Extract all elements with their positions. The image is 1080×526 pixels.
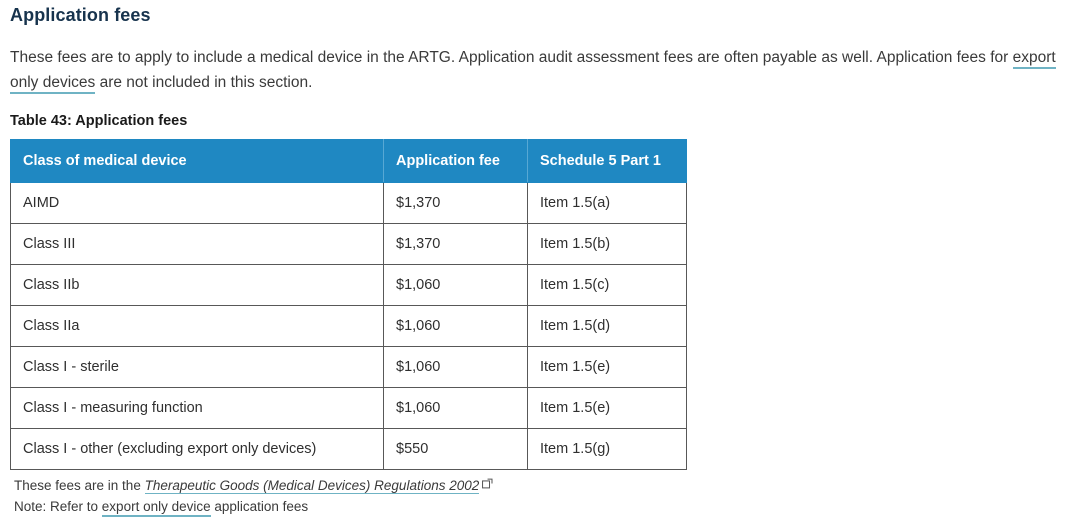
intro-text-after-link: are not included in this section. [95,74,312,91]
cell-application-fee: $1,370 [384,224,528,265]
footnote-regulations: These fees are in the Therapeutic Goods … [14,475,493,496]
cell-application-fee: $1,060 [384,306,528,347]
cell-schedule-item: Item 1.5(a) [528,183,687,224]
cell-schedule-item: Item 1.5(b) [528,224,687,265]
footnote-regulations-text: These fees are in the [14,478,145,493]
cell-application-fee: $1,370 [384,183,528,224]
table-body: AIMD $1,370 Item 1.5(a) Class III $1,370… [11,183,687,470]
cell-application-fee: $1,060 [384,347,528,388]
table-row: AIMD $1,370 Item 1.5(a) [11,183,687,224]
export-only-device-fees-link[interactable]: export only device [102,499,211,517]
therapeutic-goods-regulations-link[interactable]: Therapeutic Goods (Medical Devices) Regu… [145,478,480,494]
cell-schedule-item: Item 1.5(e) [528,347,687,388]
cell-device-class: Class III [11,224,384,265]
cell-device-class: Class I - sterile [11,347,384,388]
table-header-row: Class of medical device Application fee … [11,140,687,183]
page-title: Application fees [10,5,151,26]
cell-application-fee: $550 [384,429,528,470]
footnote-note-text-before: Note: Refer to [14,499,102,514]
column-header-application-fee: Application fee [384,140,528,183]
cell-device-class: Class I - measuring function [11,388,384,429]
column-header-class-of-medical-device: Class of medical device [11,140,384,183]
cell-schedule-item: Item 1.5(g) [528,429,687,470]
application-fees-table: Class of medical device Application fee … [10,139,687,470]
table-row: Class IIa $1,060 Item 1.5(d) [11,306,687,347]
intro-text-before-link: These fees are to apply to include a med… [10,49,1013,66]
column-header-schedule-5-part-1: Schedule 5 Part 1 [528,140,687,183]
footnote-note-text-after: application fees [211,499,309,514]
cell-schedule-item: Item 1.5(d) [528,306,687,347]
cell-schedule-item: Item 1.5(e) [528,388,687,429]
document-page: Application fees These fees are to apply… [0,0,1080,526]
table-row: Class I - measuring function $1,060 Item… [11,388,687,429]
intro-paragraph: These fees are to apply to include a med… [10,45,1072,95]
footnote-note: Note: Refer to export only device applic… [14,496,493,517]
cell-device-class: Class IIb [11,265,384,306]
table-row: Class I - sterile $1,060 Item 1.5(e) [11,347,687,388]
table-row: Class I - other (excluding export only d… [11,429,687,470]
table-footnotes: These fees are in the Therapeutic Goods … [14,475,493,517]
external-link-icon [482,478,493,489]
cell-schedule-item: Item 1.5(c) [528,265,687,306]
table-header: Class of medical device Application fee … [11,140,687,183]
cell-application-fee: $1,060 [384,388,528,429]
table-row: Class IIb $1,060 Item 1.5(c) [11,265,687,306]
table-caption: Table 43: Application fees [10,113,187,129]
table-row: Class III $1,370 Item 1.5(b) [11,224,687,265]
cell-device-class: Class I - other (excluding export only d… [11,429,384,470]
cell-device-class: Class IIa [11,306,384,347]
cell-application-fee: $1,060 [384,265,528,306]
cell-device-class: AIMD [11,183,384,224]
